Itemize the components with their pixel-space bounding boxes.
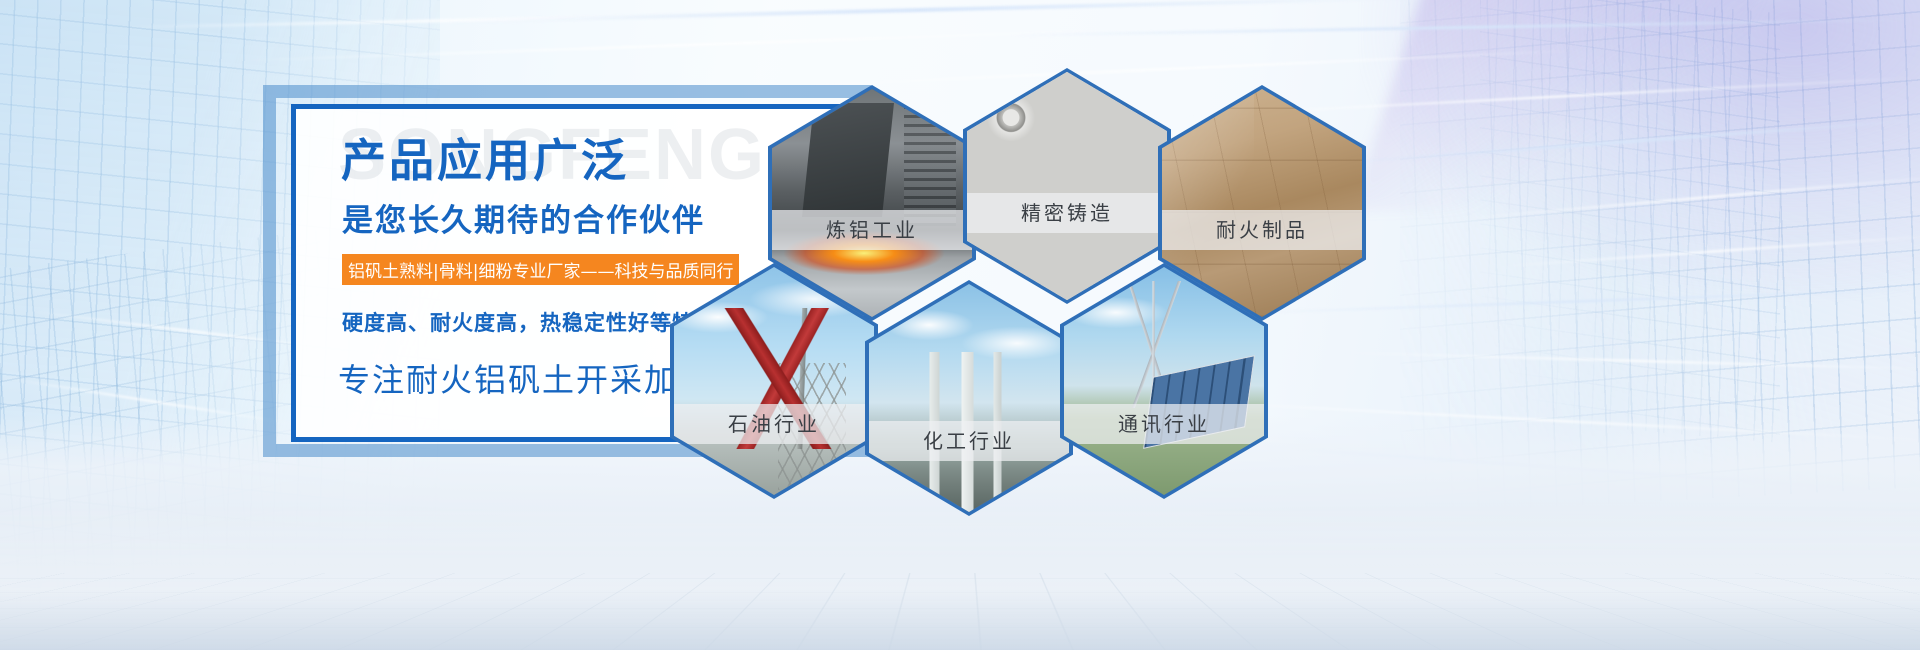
headline-subtitle: 是您长久期待的合作伙伴 xyxy=(342,195,705,240)
hex-aluminium-smelting-label: 炼铝工业 xyxy=(772,210,972,250)
hex-precision-casting[interactable]: 精密铸造 xyxy=(963,68,1171,304)
hex-inner: 精密铸造 xyxy=(967,72,1167,300)
hex-refractory-products-label: 耐火制品 xyxy=(1162,210,1362,250)
focus-text: 专注耐火铝矾土开采加工 xyxy=(338,355,712,401)
hex-chemical-industry-label: 化工行业 xyxy=(869,421,1069,461)
hex-chemical-industry[interactable]: 化工行业 xyxy=(865,280,1073,516)
bottom-vignette xyxy=(0,590,1920,650)
hex-precision-casting-label: 精密铸造 xyxy=(967,193,1167,233)
hex-telecom-industry-label: 通讯行业 xyxy=(1064,404,1264,444)
industry-hex-grid: 炼铝工业精密铸造耐火制品石油行业化工行业通讯行业 xyxy=(660,60,1340,580)
hex-chemical-industry-photo xyxy=(869,284,1069,512)
hex-precision-casting-photo xyxy=(967,72,1167,300)
hex-inner: 化工行业 xyxy=(869,284,1069,512)
headline-title: 产品应用广泛 xyxy=(341,137,629,184)
hex-oil-industry-label: 石油行业 xyxy=(674,404,874,444)
